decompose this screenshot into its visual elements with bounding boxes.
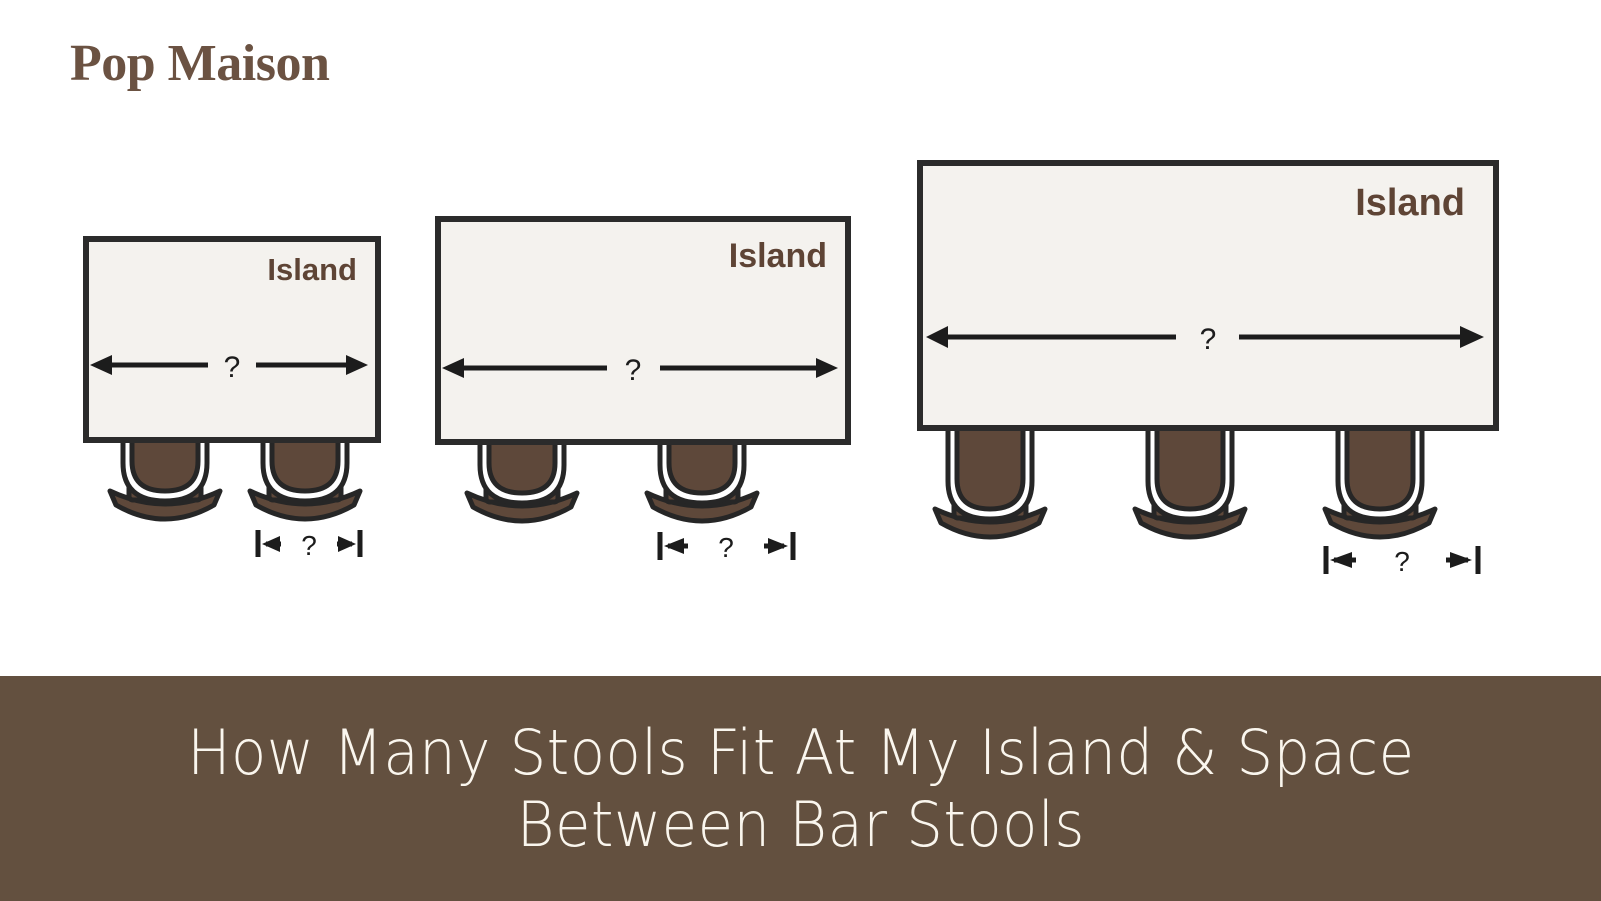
- diagram-stage: Island ? ?: [0, 0, 1601, 690]
- island-label: Island: [729, 237, 827, 275]
- stool: [935, 421, 1435, 537]
- banner-title-line-1: How Many Stools Fit At My Island & Space: [187, 717, 1414, 788]
- stool-gap-value: ?: [1394, 546, 1410, 577]
- stool-seat: [1157, 421, 1223, 509]
- stool-gap-dimension: ?: [660, 532, 793, 563]
- stool-seat: [957, 421, 1023, 509]
- banner-title-block: How Many Stools Fit At My Island & Space…: [150, 717, 1452, 860]
- island-group-medium: Island ? ?: [412, 205, 882, 590]
- island-width-value: ?: [1200, 323, 1217, 356]
- island-group-large: Island ? ?: [894, 149, 1530, 591]
- island-group-small: Island ? ?: [60, 225, 420, 590]
- island-group-large-svg: Island ? ?: [894, 149, 1530, 591]
- stool-seat: [1347, 421, 1413, 509]
- island-width-value: ?: [625, 354, 642, 387]
- island-group-medium-svg: Island ? ?: [412, 205, 882, 590]
- island-label: Island: [1355, 182, 1465, 224]
- title-banner: How Many Stools Fit At My Island & Space…: [0, 676, 1601, 901]
- island-width-value: ?: [224, 351, 241, 384]
- stool-gap-value: ?: [718, 532, 734, 563]
- stool-gap-dimension: ?: [258, 530, 360, 561]
- banner-title-line-2: Between Bar Stools: [187, 789, 1414, 860]
- stool-gap-value: ?: [301, 530, 317, 561]
- page-root: Pop Maison: [0, 0, 1601, 901]
- island-label: Island: [267, 252, 357, 287]
- island-group-small-svg: Island ? ?: [60, 225, 420, 590]
- stool-gap-dimension: ?: [1326, 546, 1478, 577]
